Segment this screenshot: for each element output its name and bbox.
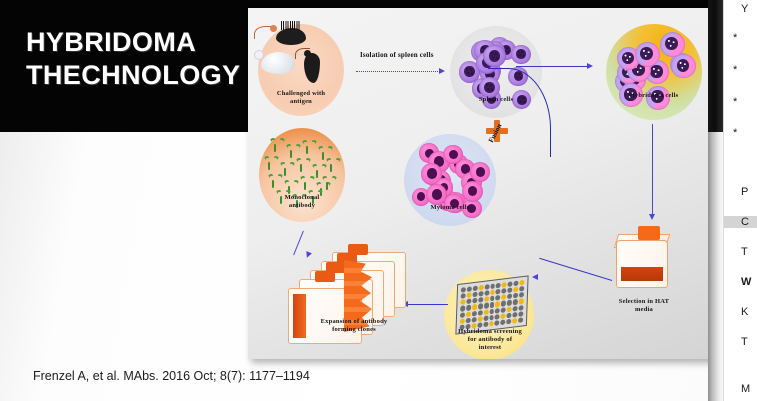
arrow-isolation	[356, 71, 440, 72]
antibody-icon	[322, 176, 333, 190]
well	[501, 294, 506, 300]
well	[490, 290, 495, 296]
well	[507, 300, 512, 306]
well	[472, 298, 477, 304]
cell-nucleus	[476, 167, 485, 177]
antibody-icon	[300, 176, 311, 190]
antibody-icon	[326, 158, 337, 172]
outline-row-9[interactable]: K	[724, 306, 757, 318]
outline-row-4[interactable]: *	[724, 127, 757, 139]
antibody-icon	[302, 140, 313, 154]
cell	[660, 32, 685, 57]
cell-nucleus	[449, 150, 458, 159]
outline-row-8[interactable]: W	[724, 276, 757, 288]
outline-row-10[interactable]: T	[724, 336, 757, 348]
antibody-icon	[268, 174, 279, 188]
cell-nucleus	[489, 50, 500, 62]
well	[484, 303, 489, 309]
arrow-fusion	[488, 68, 551, 157]
mouse-dark-icon	[276, 28, 306, 45]
microplate-icon	[455, 275, 528, 334]
well	[508, 281, 513, 287]
cell-nucleus	[622, 52, 634, 65]
arrow-to-hat-selection-head	[649, 214, 655, 220]
culture-flask-hat-icon	[612, 226, 674, 292]
caption-hybridoma-screening: Hybridoma screening for antibody of inte…	[444, 328, 536, 352]
arrow-to-screening	[539, 258, 612, 281]
citation-text: Frenzel A, et al. MAbs. 2016 Oct; 8(7): …	[33, 369, 310, 383]
well	[489, 321, 494, 327]
outline-row-5[interactable]: P	[724, 186, 757, 198]
label-isolation-of-spleen-cells: Isolation of spleen cells	[360, 51, 434, 59]
well	[519, 280, 524, 286]
well	[502, 288, 507, 294]
well	[460, 299, 465, 305]
well	[501, 313, 506, 319]
well	[502, 282, 507, 288]
well	[514, 281, 519, 287]
outline-row-11[interactable]: M	[724, 383, 757, 395]
well	[519, 292, 524, 298]
arrow-to-hybridoma-head	[587, 63, 593, 69]
flask-media	[621, 267, 663, 281]
well	[512, 318, 517, 324]
flask-cap-icon	[638, 226, 660, 240]
well	[478, 297, 483, 303]
caption-myeloma-cells: Myloma cells	[404, 204, 496, 212]
well	[478, 304, 483, 310]
well	[490, 296, 495, 302]
well	[495, 314, 500, 320]
well	[501, 319, 506, 325]
cell-nucleus	[640, 47, 653, 60]
cell	[635, 42, 660, 67]
cell	[511, 45, 530, 64]
well	[478, 285, 483, 291]
antibody-icon	[286, 144, 297, 158]
well	[466, 305, 471, 311]
well	[506, 319, 511, 325]
outline-row-7[interactable]: T	[724, 246, 757, 258]
mouse-white-icon	[261, 52, 295, 74]
well	[501, 301, 506, 307]
cell	[443, 145, 463, 165]
well	[478, 291, 483, 297]
well	[472, 304, 477, 310]
cell-nucleus	[464, 66, 475, 77]
well	[484, 297, 489, 303]
flask-body	[616, 240, 668, 288]
outline-row-6[interactable]: C	[724, 216, 757, 228]
well	[484, 284, 489, 290]
well	[501, 307, 506, 313]
antibody-icon	[280, 162, 291, 176]
well	[496, 283, 501, 289]
well	[484, 290, 489, 296]
well	[461, 287, 466, 293]
well	[519, 286, 524, 292]
arrow-to-screening-head	[532, 274, 538, 280]
cell-nucleus	[427, 168, 437, 178]
caption-expansion-of-antibody-forming-clones: Expansion of antibody forming clones	[294, 318, 414, 334]
well	[460, 312, 465, 318]
well	[495, 308, 500, 314]
caption-challenged-with-antigen: Challenged with antigen	[258, 90, 344, 106]
well	[461, 293, 466, 299]
well	[512, 312, 517, 318]
well	[489, 302, 494, 308]
cell	[671, 54, 695, 78]
cell-nucleus	[432, 189, 442, 199]
well	[513, 287, 518, 293]
well	[519, 298, 524, 304]
well	[513, 299, 518, 305]
antibody-icon	[296, 158, 307, 172]
well	[507, 306, 512, 312]
well	[466, 299, 471, 305]
well	[518, 317, 523, 323]
cell-nucleus	[650, 65, 662, 78]
outline-row-1[interactable]: *	[724, 32, 757, 44]
arrow-to-hat-selection	[652, 124, 653, 216]
well	[507, 288, 512, 294]
well	[513, 293, 518, 299]
caption-selection-in-hat-media: Selection in HAT media	[600, 298, 688, 314]
caption-hybridoma-cells: Hybridoma cells	[606, 92, 702, 100]
well	[460, 318, 465, 324]
well	[489, 308, 494, 314]
flask-cap-icon	[315, 271, 335, 282]
cell-nucleus	[665, 37, 678, 51]
well	[483, 309, 488, 315]
well	[496, 295, 501, 301]
antibody-icon	[264, 156, 275, 170]
antibody-icon	[270, 138, 281, 152]
outline-row-3[interactable]: *	[724, 96, 757, 108]
well	[466, 311, 471, 317]
well	[477, 316, 482, 322]
well	[495, 301, 500, 307]
mouse-ear-icon	[270, 25, 277, 32]
well	[478, 310, 483, 316]
well	[490, 283, 495, 289]
well	[495, 320, 500, 326]
well	[507, 294, 512, 300]
well	[519, 305, 524, 311]
page-title: HYBRIDOMA THECHNOLOGY	[26, 26, 241, 92]
well	[471, 317, 476, 323]
outline-row-0[interactable]: Y	[724, 3, 757, 15]
well	[507, 312, 512, 318]
well	[472, 292, 477, 298]
cell-nucleus	[516, 49, 526, 59]
well	[518, 311, 523, 317]
well	[483, 315, 488, 321]
outline-pane[interactable]: Y****PCTWKTM	[723, 0, 757, 401]
vertical-scrollbar-thumb[interactable]	[708, 132, 723, 401]
hybridoma-technology-diagram: Challenged with antigen Isolation of spl…	[248, 8, 715, 359]
cell	[462, 181, 483, 202]
outline-row-2[interactable]: *	[724, 64, 757, 76]
cell-nucleus	[468, 186, 478, 196]
well	[472, 310, 477, 316]
well	[496, 289, 501, 295]
slide-canvas: HYBRIDOMA THECHNOLOGY Challenged with an…	[0, 0, 723, 401]
arrow-isolation-head	[439, 68, 445, 74]
well	[466, 317, 471, 323]
caption-monoclonal-antibody: Monoclonal antibody	[259, 194, 345, 210]
microplate-well-grid	[459, 280, 524, 330]
arrow-to-hybridoma	[516, 66, 588, 67]
well	[513, 305, 518, 311]
well	[466, 293, 471, 299]
cell	[483, 45, 506, 68]
cell-nucleus	[417, 192, 425, 201]
well	[460, 306, 465, 312]
well	[483, 321, 488, 327]
well	[489, 315, 494, 321]
cell-nucleus	[677, 59, 690, 72]
well	[467, 286, 472, 292]
well	[473, 286, 478, 292]
